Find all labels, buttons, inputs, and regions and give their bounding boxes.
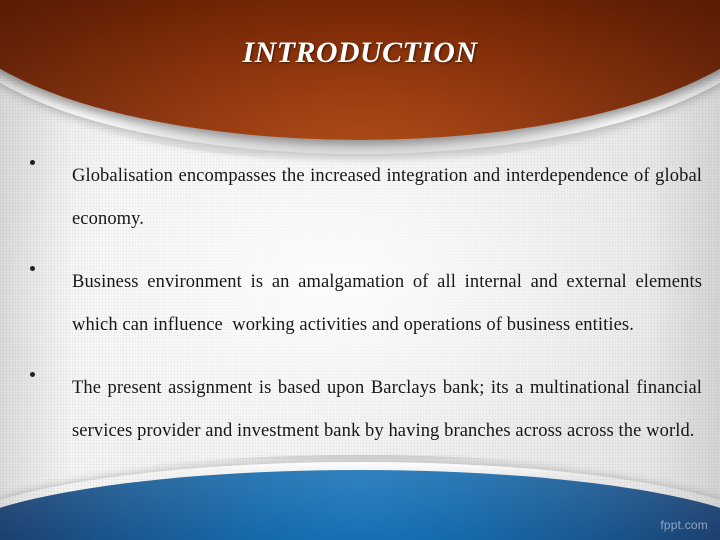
header-brown-banner <box>0 0 720 140</box>
presentation-slide: Globalisation encompasses the increased … <box>0 0 720 540</box>
bullet-point-icon <box>30 372 35 377</box>
footer-sheen-overlay <box>0 470 720 540</box>
bullet-text: The present assignment is based upon Bar… <box>72 367 702 453</box>
bullet-item: Globalisation encompasses the increased … <box>0 155 720 241</box>
bullet-point-icon <box>30 160 35 165</box>
page-title: INTRODUCTION <box>0 36 720 70</box>
watermark-label: fppt.com <box>660 518 708 532</box>
slide-body-content: Globalisation encompasses the increased … <box>0 155 720 473</box>
footer-blue-banner <box>0 470 720 540</box>
bullet-text: Globalisation encompasses the increased … <box>72 155 702 241</box>
bullet-item: Business environment is an amalgamation … <box>0 261 720 347</box>
bullet-point-icon <box>30 266 35 271</box>
bullet-item: The present assignment is based upon Bar… <box>0 367 720 453</box>
header-sheen-overlay <box>0 0 720 140</box>
bullet-text: Business environment is an amalgamation … <box>72 261 702 347</box>
